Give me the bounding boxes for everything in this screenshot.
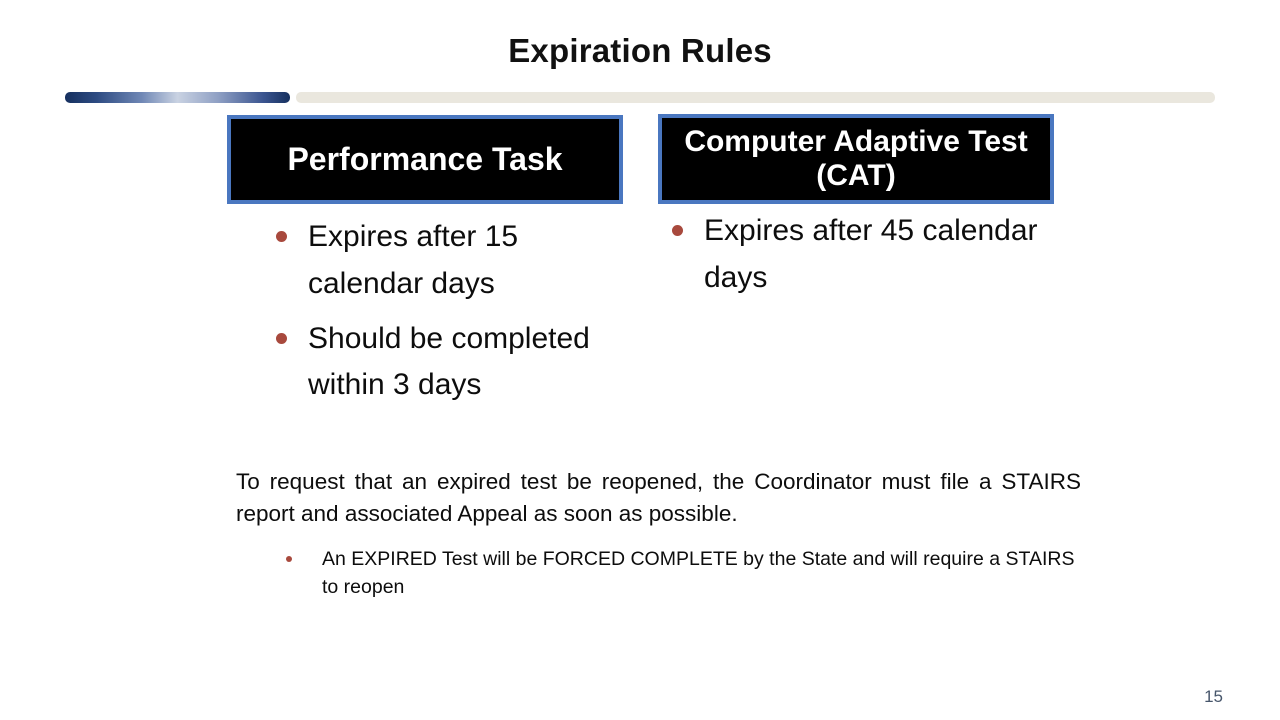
note-sub-bullet-label: An EXPIRED Test will be FORCED COMPLETE … (322, 548, 1074, 598)
list-item-label: Expires after 15 calendar days (308, 220, 518, 300)
note-paragraph: To request that an expired test be reope… (236, 466, 1081, 530)
slide-canvas: { "slide": { "title": "Expiration Rules"… (0, 0, 1280, 720)
divider (65, 92, 1215, 103)
page-title: Expiration Rules (0, 33, 1280, 69)
bullet-dot-icon (286, 556, 292, 562)
note-sub-bullet: An EXPIRED Test will be FORCED COMPLETE … (283, 545, 1082, 601)
divider-gradient-bar (65, 92, 290, 103)
list-item-label: Should be completed within 3 days (308, 322, 590, 402)
bullet-list-performance-task: Expires after 15 calendar days Should be… (262, 214, 632, 417)
list-item: Expires after 45 calendar days (658, 208, 1038, 302)
list-item: Should be completed within 3 days (262, 316, 632, 410)
list-item: Expires after 15 calendar days (262, 214, 632, 308)
bullet-dot-icon (672, 225, 683, 236)
page-number: 15 (1204, 687, 1223, 707)
divider-beige-bar (296, 92, 1215, 103)
header-box-performance-task-label: Performance Task (287, 141, 562, 177)
bullet-dot-icon (276, 231, 287, 242)
header-box-performance-task: Performance Task (227, 115, 623, 204)
bullet-dot-icon (276, 333, 287, 344)
list-item-label: Expires after 45 calendar days (704, 214, 1038, 294)
header-box-computer-adaptive-test-label: Computer Adaptive Test (CAT) (670, 125, 1042, 193)
bullet-list-computer-adaptive-test: Expires after 45 calendar days (658, 208, 1038, 310)
header-box-computer-adaptive-test: Computer Adaptive Test (CAT) (658, 114, 1054, 204)
